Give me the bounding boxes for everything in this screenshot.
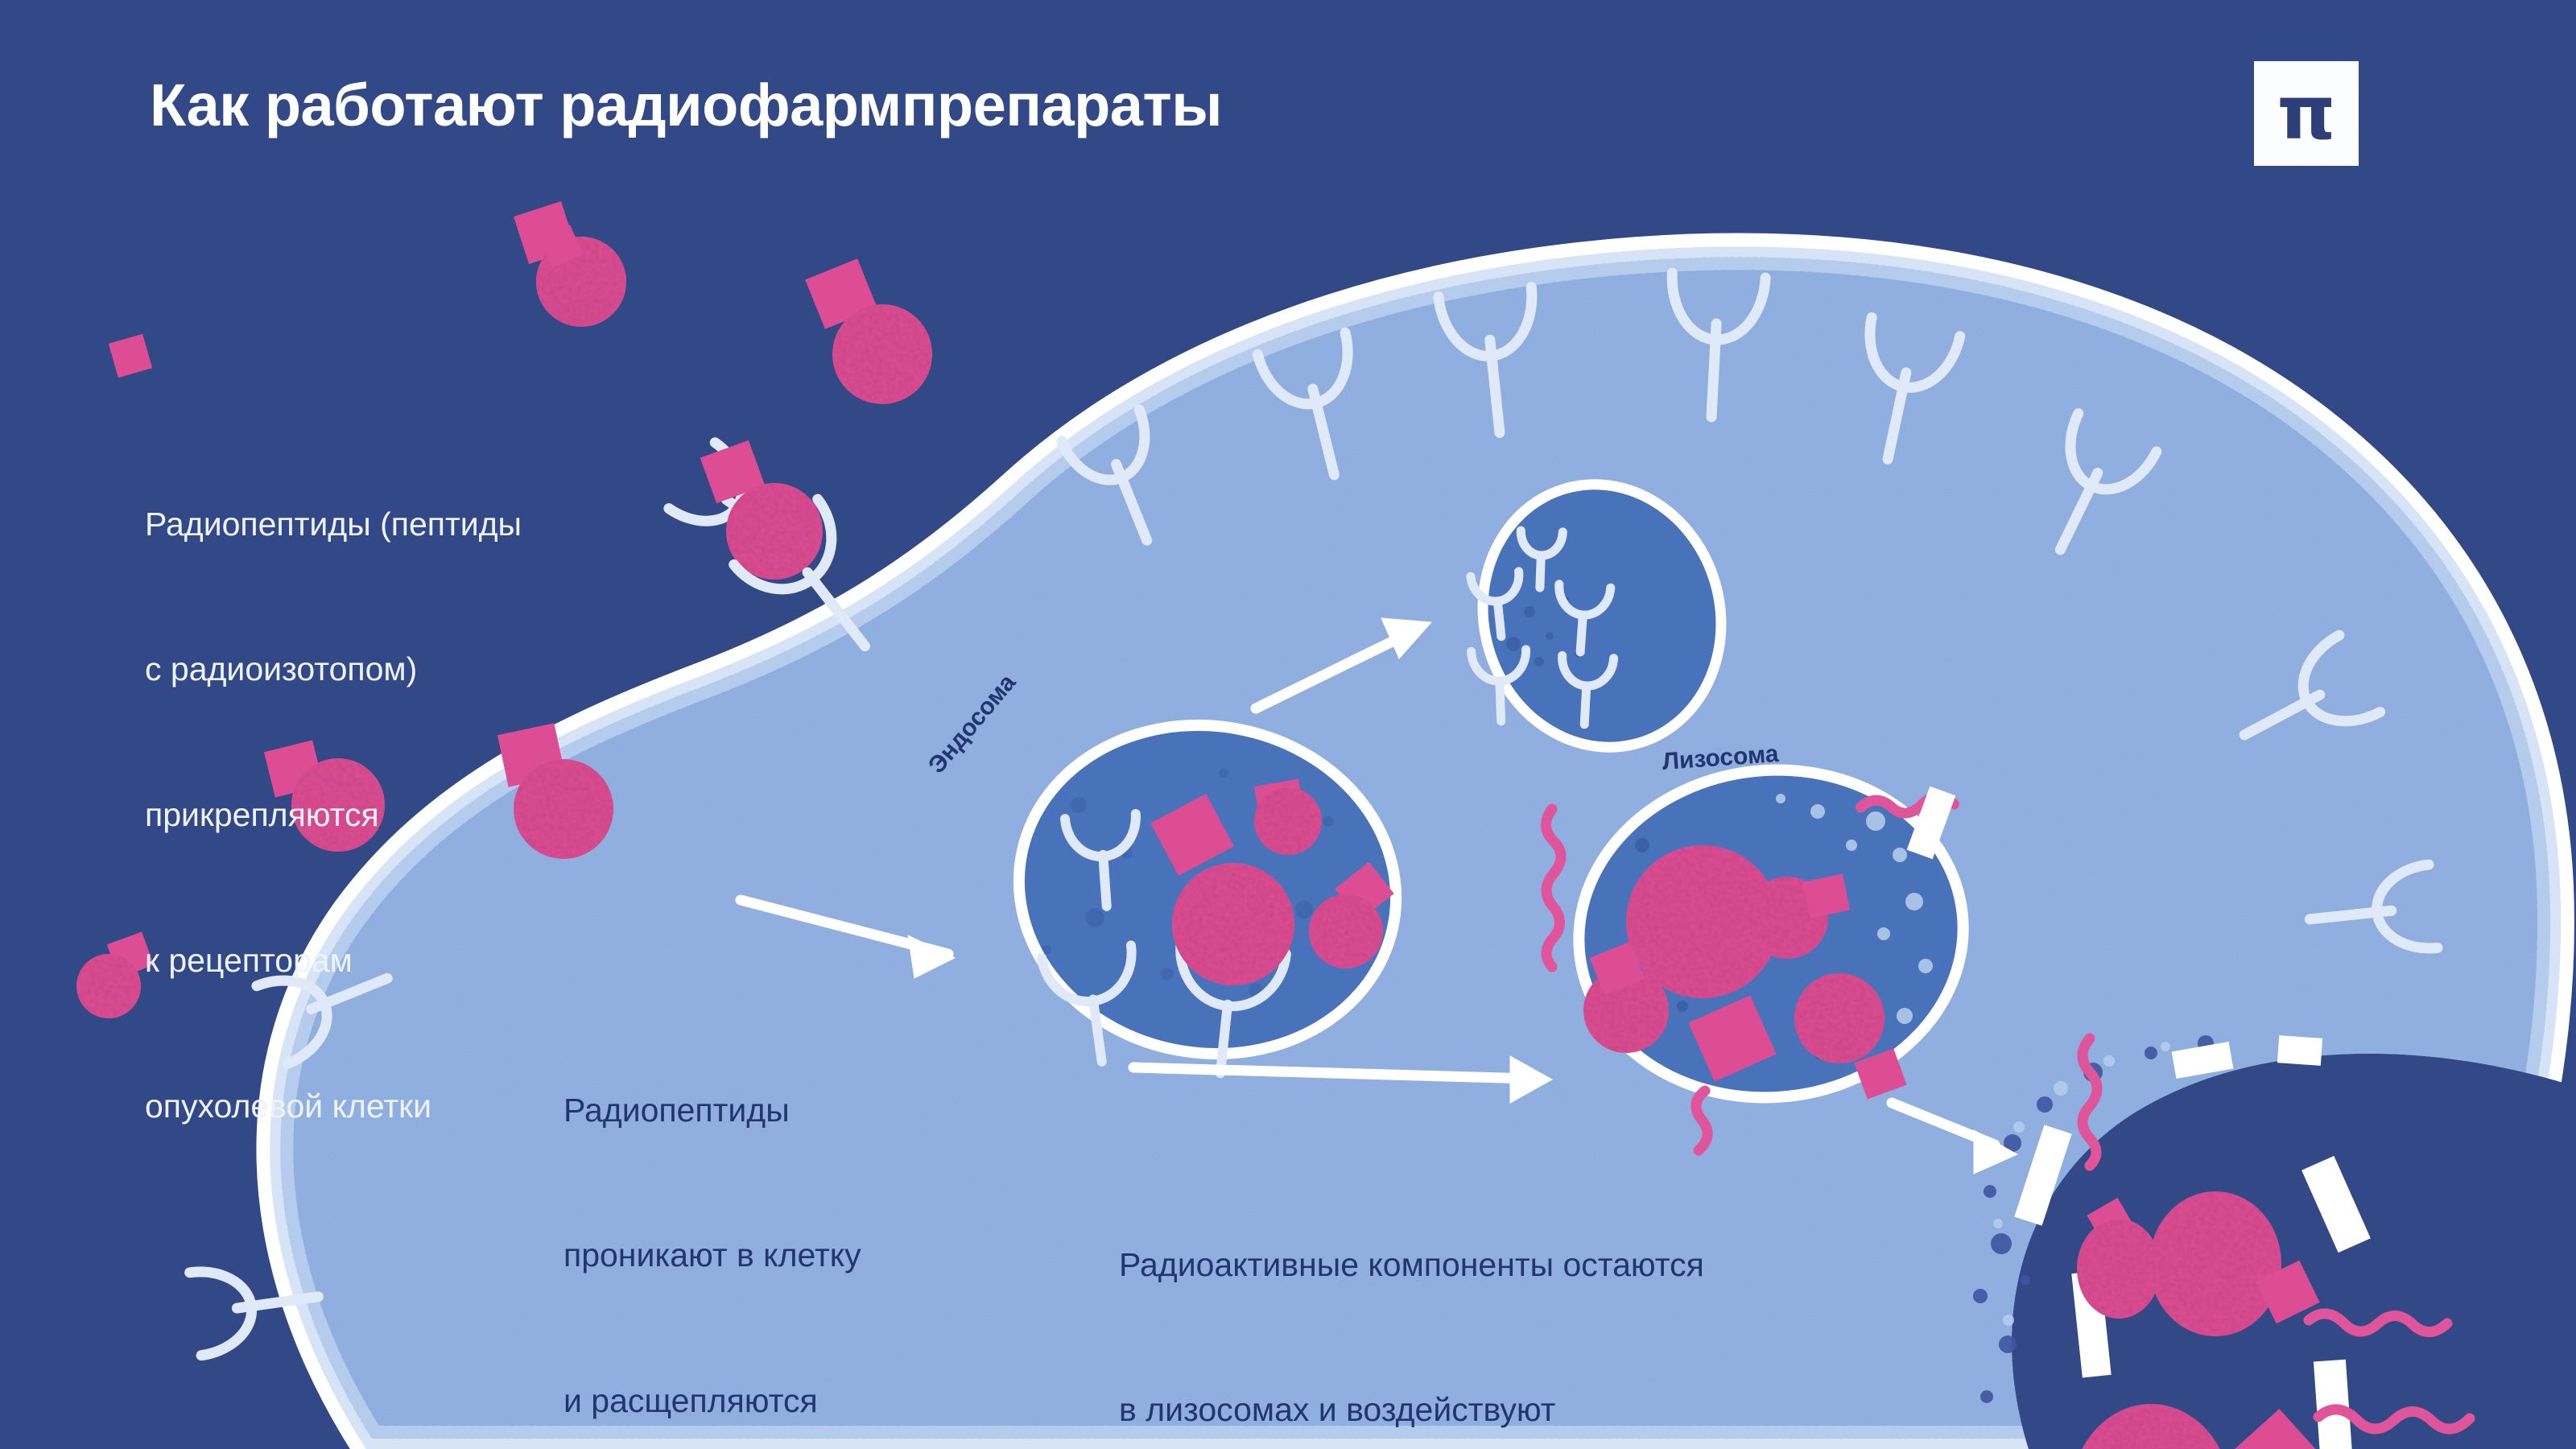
callout-lysosome-effect: Радиоактивные компоненты остаются в лизо…: [1119, 1143, 1715, 1449]
infographic-canvas: π Как работают радиофармпрепараты Радиоп…: [0, 0, 2576, 1449]
callout-attachment: Радиопептиды (пептиды с радиоизотопом) п…: [145, 402, 522, 1228]
page-title: Как работают радиофармпрепараты: [150, 71, 1222, 139]
pi-glyph: π: [2277, 84, 2336, 143]
callout-line: в лизосомах и воздействуют: [1119, 1385, 1715, 1434]
callout-internalisation: Радиопептиды проникают в клетку и расщеп…: [563, 989, 861, 1449]
callout-line: с радиоизотопом): [145, 645, 522, 693]
callout-line: опухолевой клетки: [145, 1082, 522, 1130]
callout-line: и расщепляются: [563, 1377, 861, 1425]
callout-line: прикрепляются: [145, 791, 522, 839]
callout-line: Радиопептиды (пептиды: [145, 500, 522, 548]
callout-line: Радиоактивные компоненты остаются: [1119, 1241, 1715, 1289]
callout-line: проникают в клетку: [563, 1231, 861, 1279]
postnauka-pi-logo[interactable]: π: [2254, 61, 2359, 166]
callout-line: к рецепторам: [145, 936, 522, 985]
callout-line: Радиопептиды: [563, 1086, 861, 1134]
cell-breakdown-zone: [1972, 1022, 2576, 1449]
